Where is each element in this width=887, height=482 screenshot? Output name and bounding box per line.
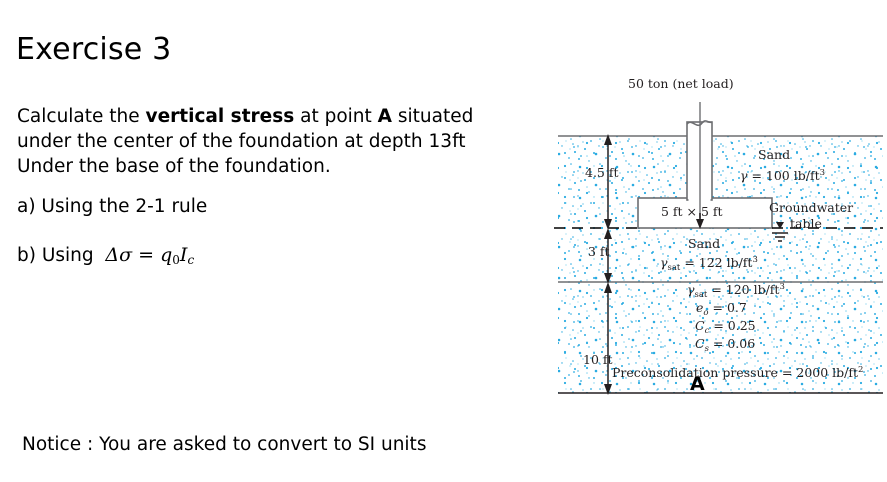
layer3-unit-weight-value: = 120 lb/ft [707, 282, 779, 297]
layer2-unit-weight-value: = 122 lb/ft [680, 255, 752, 270]
page-title: Exercise 3 [16, 32, 171, 67]
gamma-subscript-layer3: sat [694, 290, 707, 300]
layer2-unit-weight-exponent: 3 [752, 255, 757, 265]
layer3-swell-index-label: Cs = 0.06 [695, 337, 755, 354]
problem-prefix: Calculate the [17, 106, 146, 127]
formula-q0: q [160, 244, 172, 266]
soil-profile-figure: 50 ton (net load) 4.5 ft 3 ft 10 ft 5 ft… [540, 70, 887, 405]
text-column: Exercise 3 Calculate the vertical stress… [0, 0, 540, 482]
formula-q0-subscript: 0 [172, 253, 180, 267]
preconsolidation-text: Preconsolidation pressure = 2000 lb/ft [612, 365, 858, 380]
layer3-void-ratio-label: eo = 0.7 [696, 301, 747, 318]
footing-size-label: 5 ft × 5 ft [661, 205, 723, 218]
compression-index-symbol: C [695, 318, 705, 333]
problem-statement: Calculate the vertical stress at point A… [17, 104, 517, 179]
layer1-soil-label: Sand [758, 148, 790, 161]
groundwater-label-line1: Groundwater [769, 201, 853, 214]
layer3-unit-weight-label: γsat = 120 lb/ft3 [687, 283, 785, 300]
formula-ic-subscript: c [187, 253, 194, 267]
preconsolidation-exponent: 2 [858, 365, 863, 375]
layer3-compression-index-label: Cc = 0.25 [695, 319, 756, 336]
layer1-unit-weight-value: = 100 lb/ft [747, 168, 819, 183]
question-item-a: a) Using the 2-1 rule [17, 196, 207, 217]
preconsolidation-pressure-label: Preconsolidation pressure = 2000 lb/ft2 [612, 366, 863, 379]
layer3-unit-weight-exponent: 3 [779, 282, 784, 292]
layer1-unit-weight-exponent: 3 [820, 168, 825, 178]
thickness-label-3ft: 3 ft [588, 245, 610, 258]
question-item-b-label: b) Using [17, 245, 94, 266]
swell-index-symbol: C [695, 336, 705, 351]
thickness-label-10ft: 10 ft [583, 353, 613, 366]
swell-index-value: = 0.06 [709, 336, 755, 351]
depth-label-4-5ft: 4.5 ft [585, 166, 619, 179]
gamma-subscript-layer2: sat [667, 263, 680, 273]
notice-text: Notice : You are asked to convert to SI … [22, 434, 426, 455]
problem-emphasis-vertical-stress: vertical stress [146, 106, 295, 127]
formula-delta-sigma: Δσ [105, 244, 132, 266]
formula-equals: = [132, 244, 160, 266]
problem-emphasis-point-a: A [378, 106, 392, 127]
layer2-soil-label: Sand [688, 237, 720, 250]
slide-page: Exercise 3 Calculate the vertical stress… [0, 0, 887, 482]
groundwater-label-line2: table [790, 217, 822, 230]
compression-index-value: = 0.25 [709, 318, 755, 333]
load-label: 50 ton (net load) [628, 77, 734, 90]
point-a-marker: A [690, 373, 705, 395]
question-item-b: b) Using Δσ = q0Ic [17, 244, 194, 267]
problem-mid: at point [294, 106, 377, 127]
layer1-unit-weight-label: γ = 100 lb/ft3 [740, 169, 825, 182]
layer2-unit-weight-label: γsat = 122 lb/ft3 [660, 256, 758, 273]
void-ratio-value: = 0.7 [709, 300, 747, 315]
